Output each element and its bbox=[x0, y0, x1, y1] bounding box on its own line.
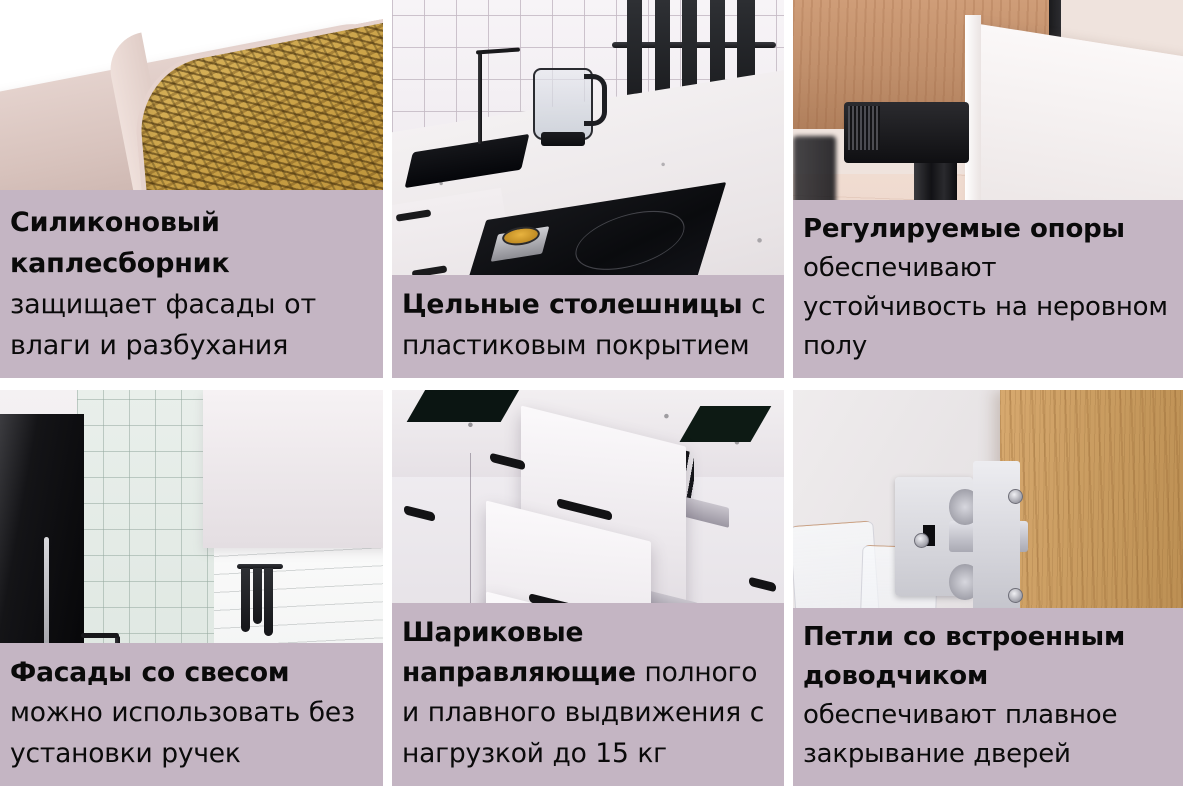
caption-ball-bearing-slides: Шариковые направляющие полного и плавног… bbox=[392, 603, 784, 786]
caption-soft-close-hinges: Петли со встроенным доводчиком обеспечив… bbox=[793, 608, 1183, 786]
caption-solid-countertops: Цельные столешницы с пластиковым покрыти… bbox=[392, 275, 784, 378]
feature-card-solid-countertops[interactable]: Цельные столешницы с пластиковым покрыти… bbox=[392, 0, 784, 378]
caption-rest-text: можно использовать без установки ручек bbox=[10, 697, 355, 768]
feature-card-overhang-fronts[interactable]: Фасады со свесом можно использовать без … bbox=[0, 390, 383, 786]
caption-bold-text: Цельные столешницы bbox=[402, 289, 742, 320]
feature-card-ball-bearing-slides[interactable]: Шариковые направляющие полного и плавног… bbox=[392, 390, 784, 786]
caption-bold-text: Шариковые направляющие bbox=[402, 617, 636, 688]
caption-bold-text: Регулируемые опоры bbox=[803, 214, 1125, 244]
caption-rest-text: защищает фасады от влаги и разбухания bbox=[10, 289, 316, 361]
caption-rest-text: обеспечивают плавное закрывание дверей bbox=[803, 700, 1117, 769]
feature-card-silicone-drip-catcher[interactable]: Силиконовый каплесборник защищает фасады… bbox=[0, 0, 383, 378]
feature-card-soft-close-hinges[interactable]: Петли со встроенным доводчиком обеспечив… bbox=[793, 390, 1183, 786]
caption-silicone-drip-catcher: Силиконовый каплесборник защищает фасады… bbox=[0, 190, 383, 378]
feature-grid: Силиконовый каплесборник защищает фасады… bbox=[0, 0, 1183, 786]
caption-overhang-fronts: Фасады со свесом можно использовать без … bbox=[0, 643, 383, 786]
feature-card-adjustable-legs[interactable]: Регулируемые опоры обеспечивают устойчив… bbox=[793, 0, 1183, 378]
caption-bold-text: Петли со встроенным доводчиком bbox=[803, 622, 1125, 691]
caption-adjustable-legs: Регулируемые опоры обеспечивают устойчив… bbox=[793, 200, 1183, 378]
caption-bold-text: Силиконовый каплесборник bbox=[10, 207, 230, 279]
caption-rest-text: обеспечивают устойчивость на неровном по… bbox=[803, 253, 1168, 361]
caption-bold-text: Фасады со свесом bbox=[10, 657, 289, 688]
